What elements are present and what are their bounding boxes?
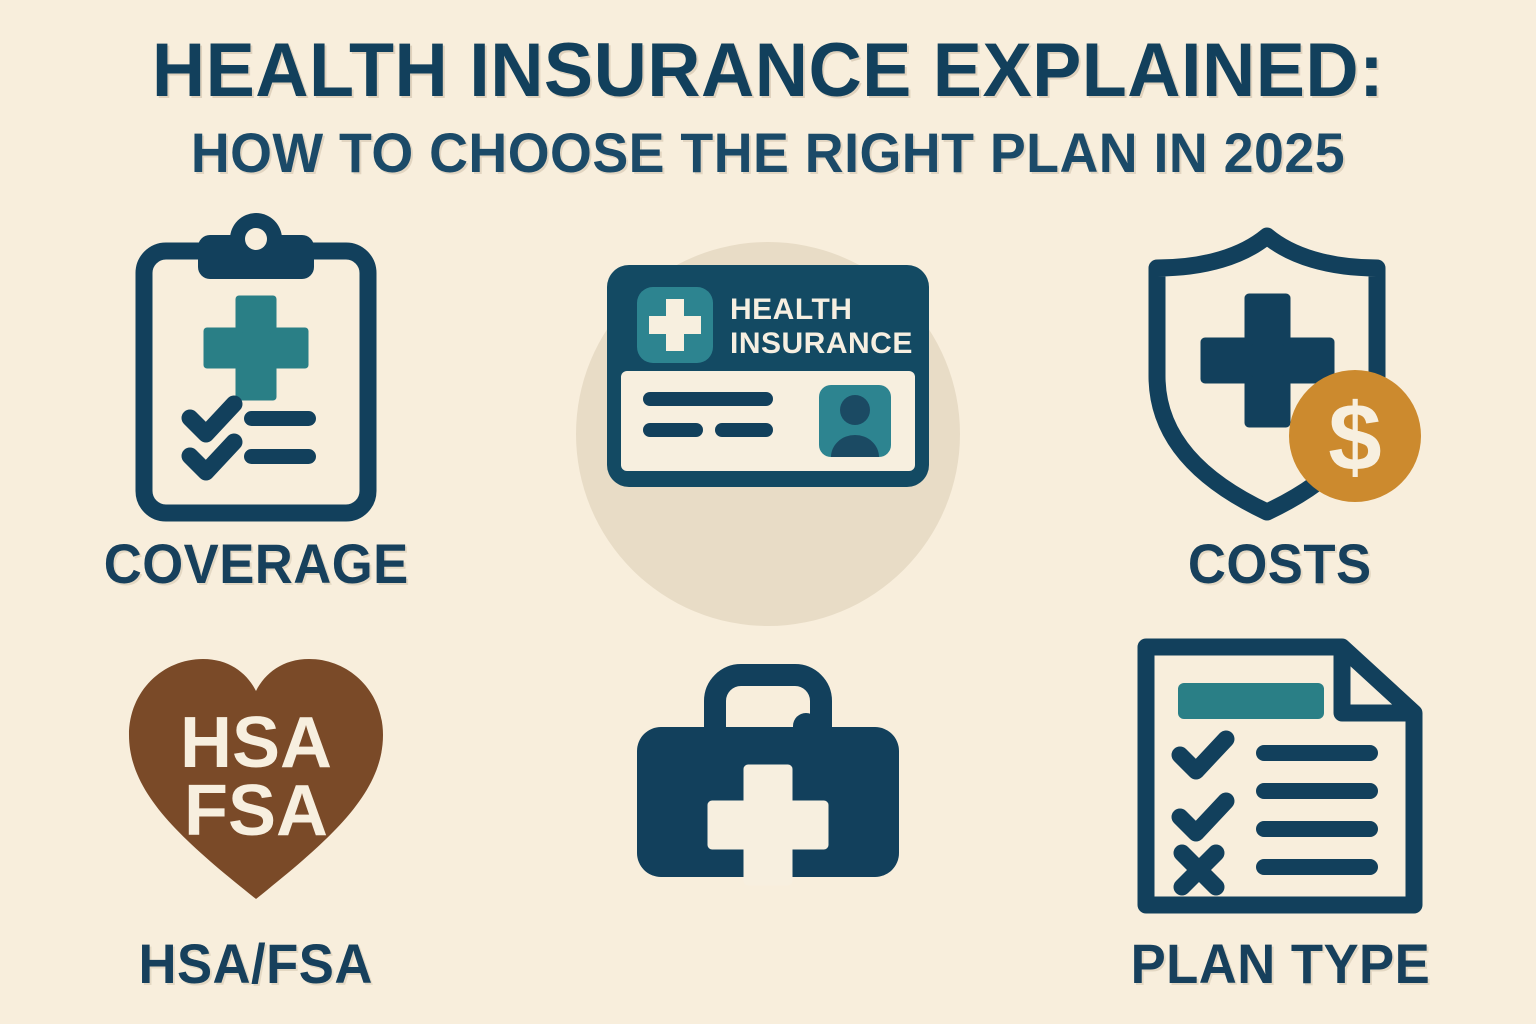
card-data-line <box>715 423 773 437</box>
page-title: HEALTH INSURANCE EXPLAINED: <box>23 34 1513 108</box>
plan-document-icon <box>1130 631 1430 921</box>
document-header-bar <box>1178 683 1324 719</box>
heart-hsa-fsa-icon: HSA FSA <box>121 641 391 911</box>
icon-grid: COVERAGE HEALTH INSURANCE <box>0 216 1536 1024</box>
medical-cross-icon <box>207 299 305 397</box>
dollar-symbol: $ <box>1328 384 1381 491</box>
card-icon-wrap: HEALTH INSURANCE <box>603 216 933 536</box>
infographic-poster: HEALTH INSURANCE EXPLAINED: HOW TO CHOOS… <box>0 0 1536 1024</box>
cell-label-coverage: COVERAGE <box>103 536 408 592</box>
heart-text-fsa: FSA <box>184 771 328 851</box>
shield-dollar-icon: $ <box>1135 226 1425 526</box>
heading-block: HEALTH INSURANCE EXPLAINED: HOW TO CHOOS… <box>0 34 1536 183</box>
check-icon <box>190 404 234 434</box>
hsa-fsa-icon-wrap: HSA FSA <box>121 616 391 936</box>
grid-cell-medical-bag <box>512 616 1024 1016</box>
card-title-line-2: INSURANCE <box>730 327 913 360</box>
costs-icon-wrap: $ <box>1135 216 1425 536</box>
grid-cell-insurance-card: HEALTH INSURANCE <box>512 216 1024 616</box>
card-data-line <box>643 423 703 437</box>
x-icon <box>1182 853 1216 887</box>
grid-cell-costs: $ COSTS <box>1024 216 1536 616</box>
card-title-line-1: HEALTH <box>730 293 852 326</box>
card-data-line <box>643 392 773 406</box>
medical-bag-icon-wrap <box>623 616 913 936</box>
cell-label-costs: COSTS <box>1188 536 1372 592</box>
check-icon <box>190 442 234 472</box>
medical-bag-icon <box>623 661 913 891</box>
clipboard-checklist-icon <box>126 221 386 531</box>
cell-label-plan-type: PLAN TYPE <box>1130 936 1430 992</box>
plan-type-icon-wrap <box>1130 616 1430 936</box>
grid-cell-plan-type: PLAN TYPE <box>1024 616 1536 1016</box>
coverage-icon-wrap <box>126 216 386 536</box>
page-subtitle: HOW TO CHOOSE THE RIGHT PLAN IN 2025 <box>31 124 1506 183</box>
check-icon <box>1180 739 1226 771</box>
check-icon <box>1180 801 1226 833</box>
cell-label-hsa-fsa: HSA/FSA <box>139 936 373 992</box>
grid-cell-hsa-fsa: HSA FSA HSA/FSA <box>0 616 512 1016</box>
insurance-card-icon: HEALTH INSURANCE <box>603 261 933 491</box>
grid-cell-coverage: COVERAGE <box>0 216 512 616</box>
